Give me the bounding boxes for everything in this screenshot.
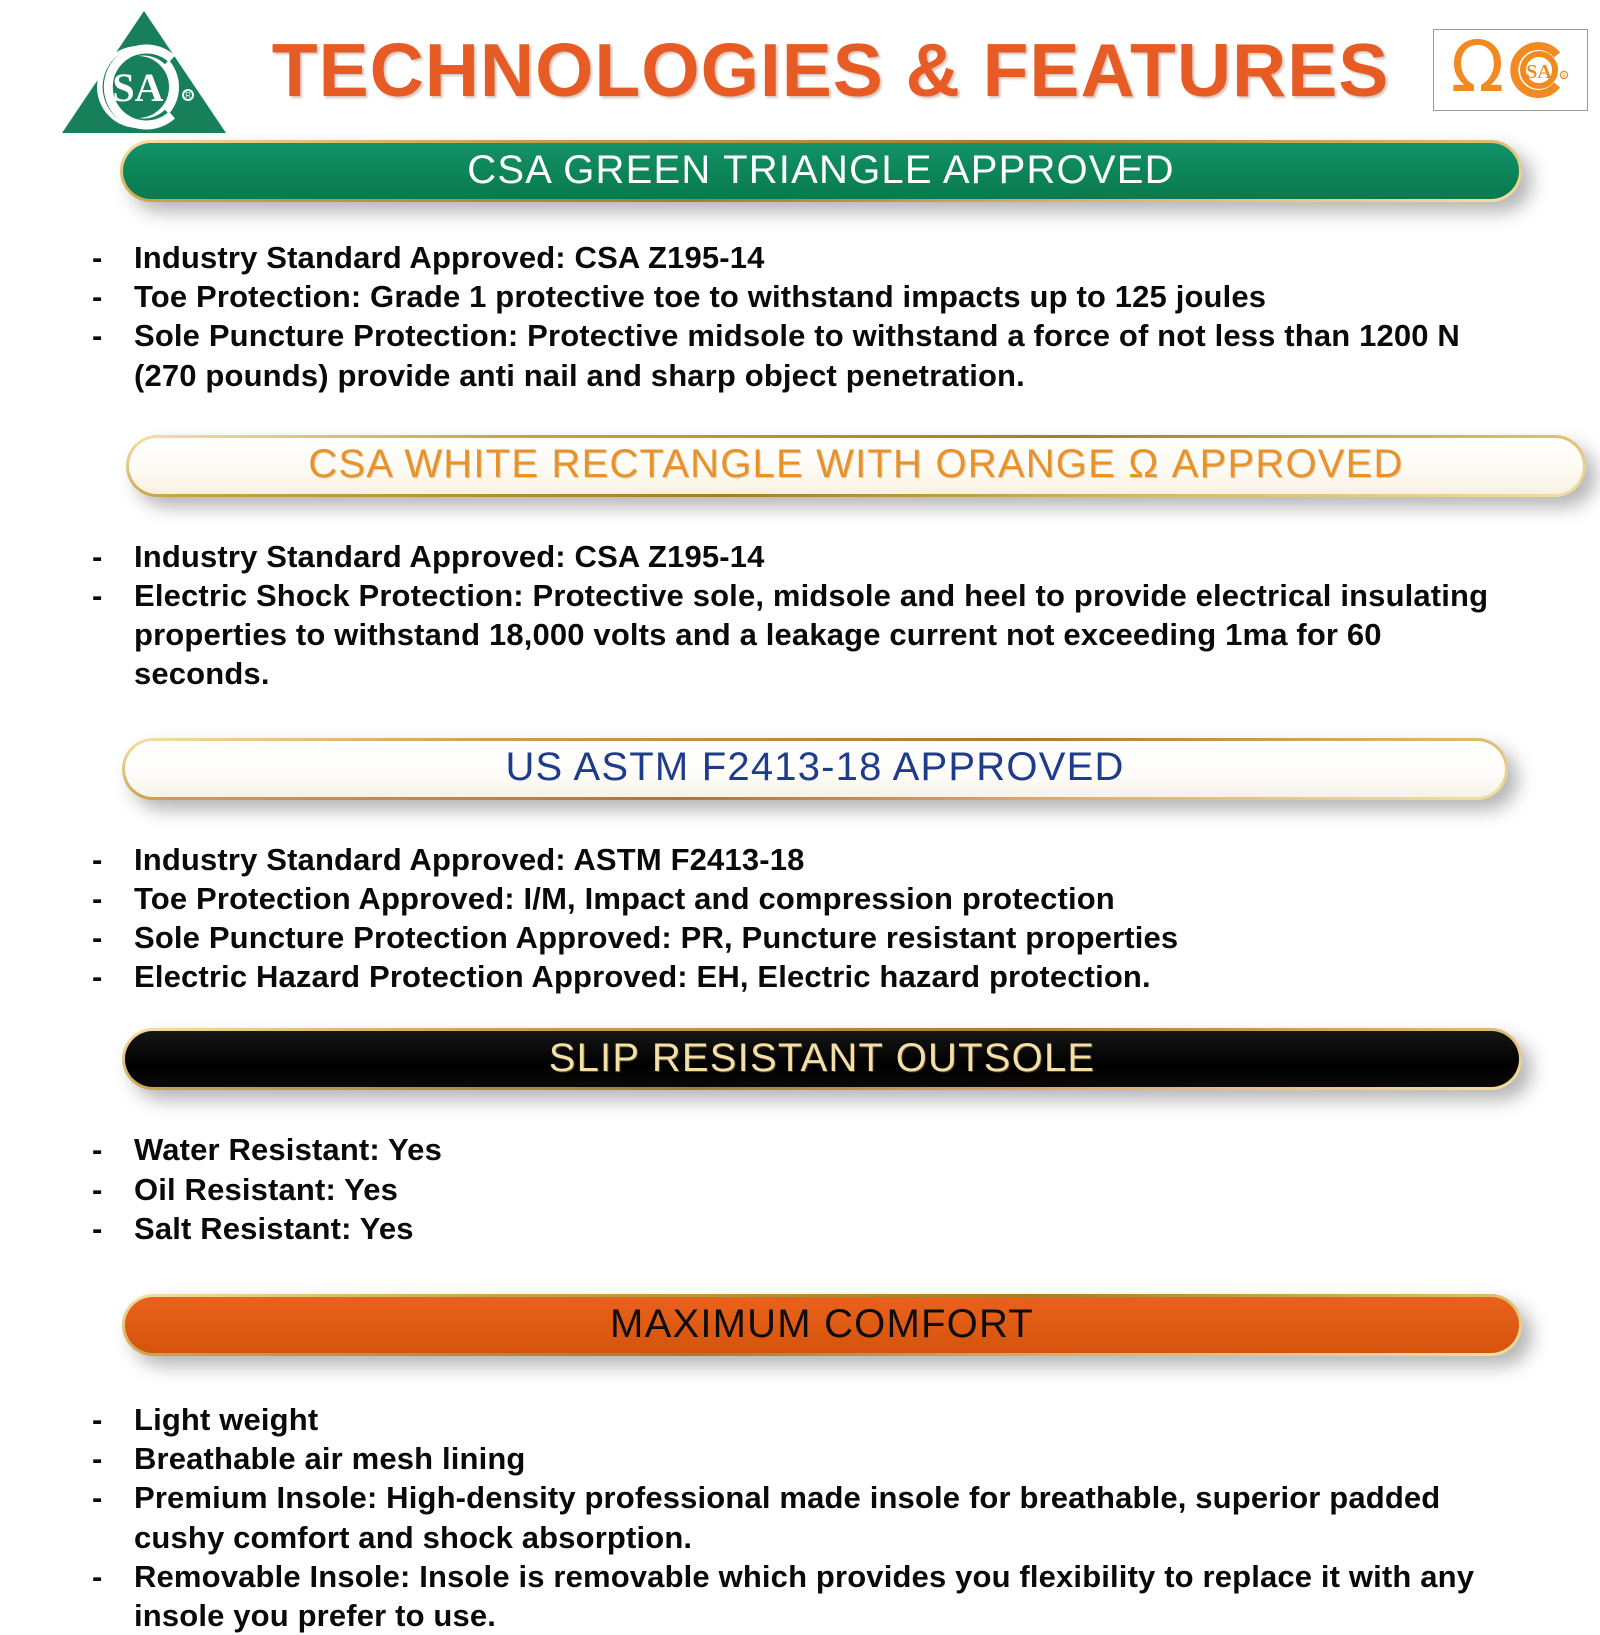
bullet-marker: - [92,576,134,615]
bullet-marker: - [92,879,134,918]
pill-maximum-comfort: MAXIMUM COMFORT [122,1294,1522,1356]
bullet-item: - Premium Insole: High-density professio… [92,1478,1600,1556]
bullet-item: - Electric Shock Protection: Protective … [92,576,1600,694]
bullet-text: Electric Hazard Protection Approved: EH,… [134,957,1600,996]
spacer [0,395,1600,435]
bullet-text: Sole Puncture Protection Approved: PR, P… [134,918,1600,957]
banner-label: CSA WHITE RECTANGLE WITH ORANGE Ω APPROV… [308,444,1403,487]
bullet-item: - Electric Hazard Protection Approved: E… [92,957,1600,996]
bullet-marker: - [92,1400,134,1439]
page-header: SA R TECHNOLOGIES & FEATURES Ω SA R [0,0,1600,140]
bullet-text: Breathable air mesh lining [134,1439,1600,1478]
bullet-text: Industry Standard Approved: ASTM F2413-1… [134,840,1600,879]
bullet-marker: - [92,1439,134,1478]
bullet-item: - Breathable air mesh lining [92,1439,1600,1478]
banner-slip-resistant: SLIP RESISTANT OUTSOLE [0,1028,1600,1100]
bullet-text: Salt Resistant: Yes [134,1209,1600,1248]
banner-label: SLIP RESISTANT OUTSOLE [549,1038,1096,1081]
banner-maximum-comfort: MAXIMUM COMFORT [0,1294,1600,1366]
bullet-item: - Removable Insole: Insole is removable … [92,1557,1600,1635]
bullet-marker: - [92,840,134,879]
bullet-text: Premium Insole: High-density professiona… [134,1478,1600,1556]
bullet-text: Electric Shock Protection: Protective so… [134,576,1600,694]
bullet-item: - Light weight [92,1400,1600,1439]
banner-csa-white-rectangle: CSA WHITE RECTANGLE WITH ORANGE Ω APPROV… [0,435,1600,507]
svg-text:R: R [185,91,191,100]
bullet-text: Toe Protection Approved: I/M, Impact and… [134,879,1600,918]
csa-green-triangle-logo: SA R [60,9,228,135]
svg-text:SA: SA [112,65,163,110]
bullet-text: Removable Insole: Insole is removable wh… [134,1557,1600,1635]
svg-text:R: R [1562,73,1566,79]
omega-icon: Ω [1451,36,1505,99]
banner-csa-green-triangle: CSA GREEN TRIANGLE APPROVED [0,140,1600,212]
bullet-item: - Sole Puncture Protection Approved: PR,… [92,918,1600,957]
bullet-text: Oil Resistant: Yes [134,1170,1600,1209]
spacer [0,996,1600,1028]
csa-circle-icon: SA R [1508,39,1570,101]
svg-text:SA: SA [1526,61,1552,83]
page-title: TECHNOLOGIES & FEATURES [238,33,1423,108]
bullet-marker: - [92,316,134,355]
bullet-list-slip-resistant: - Water Resistant: Yes - Oil Resistant: … [0,1130,1600,1248]
bullet-list-csa-green-triangle: - Industry Standard Approved: CSA Z195-1… [0,238,1600,395]
pill-green-triangle: CSA GREEN TRIANGLE APPROVED [120,140,1522,202]
bullet-marker: - [92,957,134,996]
banner-label: MAXIMUM COMFORT [610,1304,1034,1347]
pill-us-astm: US ASTM F2413-18 APPROVED [122,738,1508,800]
csa-triangle-icon: SA R [60,9,228,135]
bullet-marker: - [92,1170,134,1209]
bullet-item: - Salt Resistant: Yes [92,1209,1600,1248]
spacer [0,694,1600,738]
bullet-text: Toe Protection: Grade 1 protective toe t… [134,277,1600,316]
bullet-item: - Toe Protection Approved: I/M, Impact a… [92,879,1600,918]
bullet-marker: - [92,1130,134,1169]
bullet-item: - Industry Standard Approved: CSA Z195-1… [92,537,1600,576]
bullet-item: - Industry Standard Approved: ASTM F2413… [92,840,1600,879]
bullet-text: Water Resistant: Yes [134,1130,1600,1169]
bullet-marker: - [92,277,134,316]
bullet-text: Industry Standard Approved: CSA Z195-14 [134,537,1600,576]
bullet-marker: - [92,1557,134,1596]
bullet-marker: - [92,238,134,277]
bullet-marker: - [92,918,134,957]
bullet-item: - Water Resistant: Yes [92,1130,1600,1169]
banner-label: CSA GREEN TRIANGLE APPROVED [467,150,1174,193]
bullet-item: - Toe Protection: Grade 1 protective toe… [92,277,1600,316]
pill-white-rectangle: CSA WHITE RECTANGLE WITH ORANGE Ω APPROV… [126,435,1586,497]
bullet-item: - Industry Standard Approved: CSA Z195-1… [92,238,1600,277]
bullet-marker: - [92,1209,134,1248]
bullet-list-csa-white-rectangle: - Industry Standard Approved: CSA Z195-1… [0,537,1600,694]
bullet-text: Light weight [134,1400,1600,1439]
bullet-marker: - [92,1478,134,1517]
bullet-text: Industry Standard Approved: CSA Z195-14 [134,238,1600,277]
bullet-item: - Sole Puncture Protection: Protective m… [92,316,1600,394]
banner-label: US ASTM F2413-18 APPROVED [505,747,1124,790]
banner-us-astm: US ASTM F2413-18 APPROVED [0,738,1600,810]
bullet-list-us-astm: - Industry Standard Approved: ASTM F2413… [0,840,1600,997]
bullet-item: - Oil Resistant: Yes [92,1170,1600,1209]
bullet-marker: - [92,537,134,576]
spacer [0,1248,1600,1294]
pill-slip-resistant: SLIP RESISTANT OUTSOLE [122,1028,1522,1090]
bullet-text: Sole Puncture Protection: Protective mid… [134,316,1600,394]
csa-omega-orange-mark: Ω SA R [1433,29,1588,111]
